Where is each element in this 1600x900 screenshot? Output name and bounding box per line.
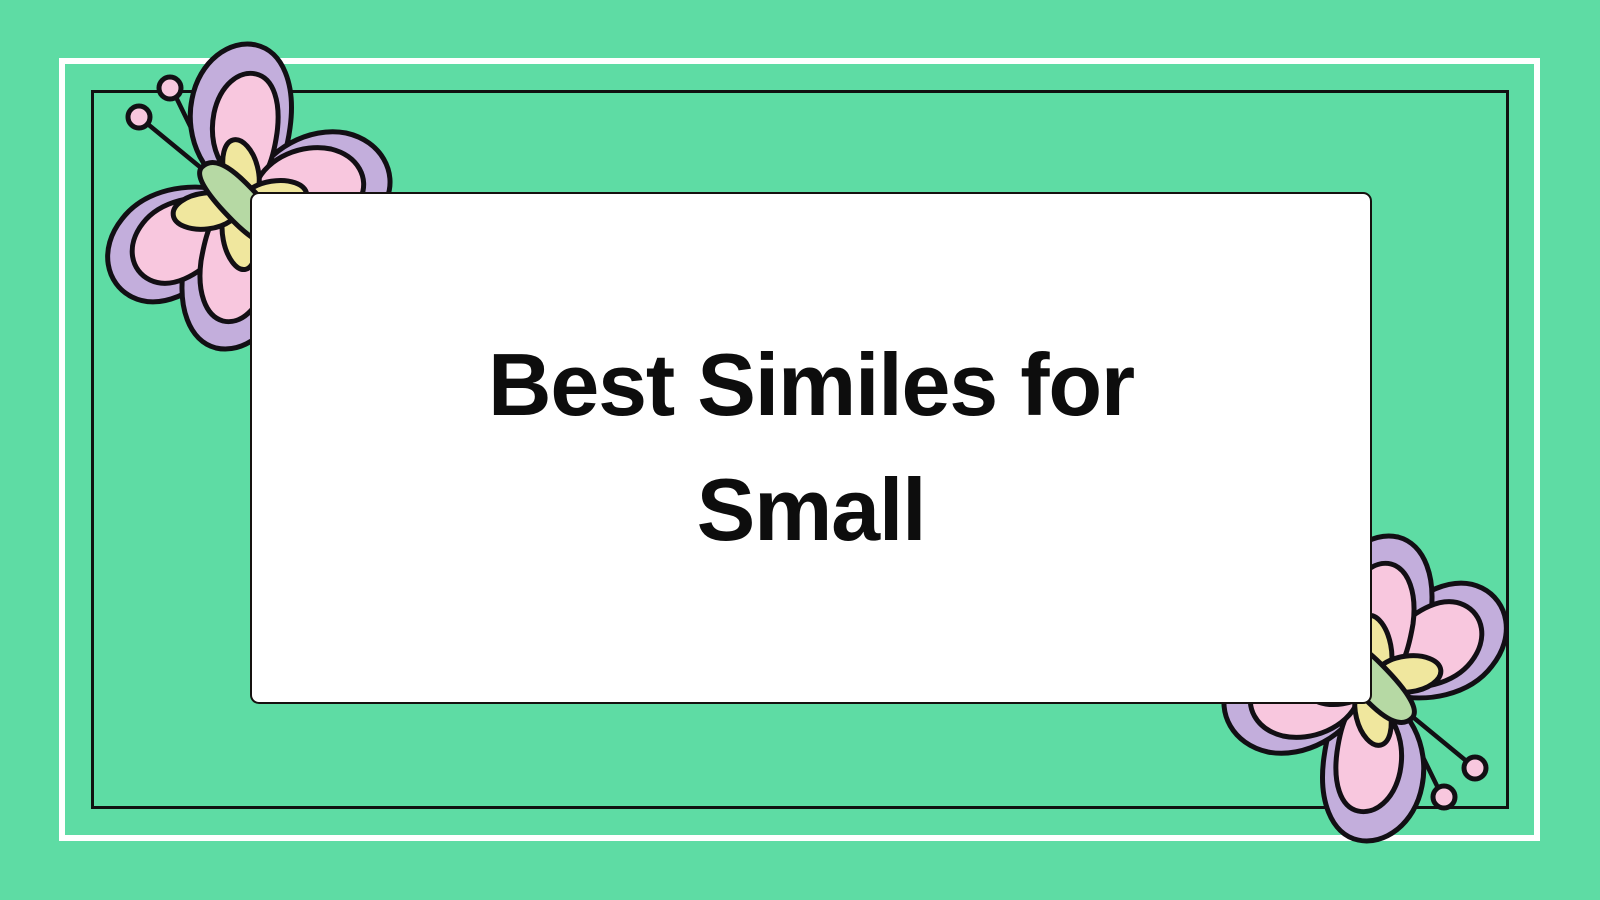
page-title: Best Similes for Small bbox=[461, 323, 1161, 573]
slide-canvas: Best Similes for Small bbox=[0, 0, 1600, 900]
content-card: Best Similes for Small bbox=[250, 192, 1372, 704]
